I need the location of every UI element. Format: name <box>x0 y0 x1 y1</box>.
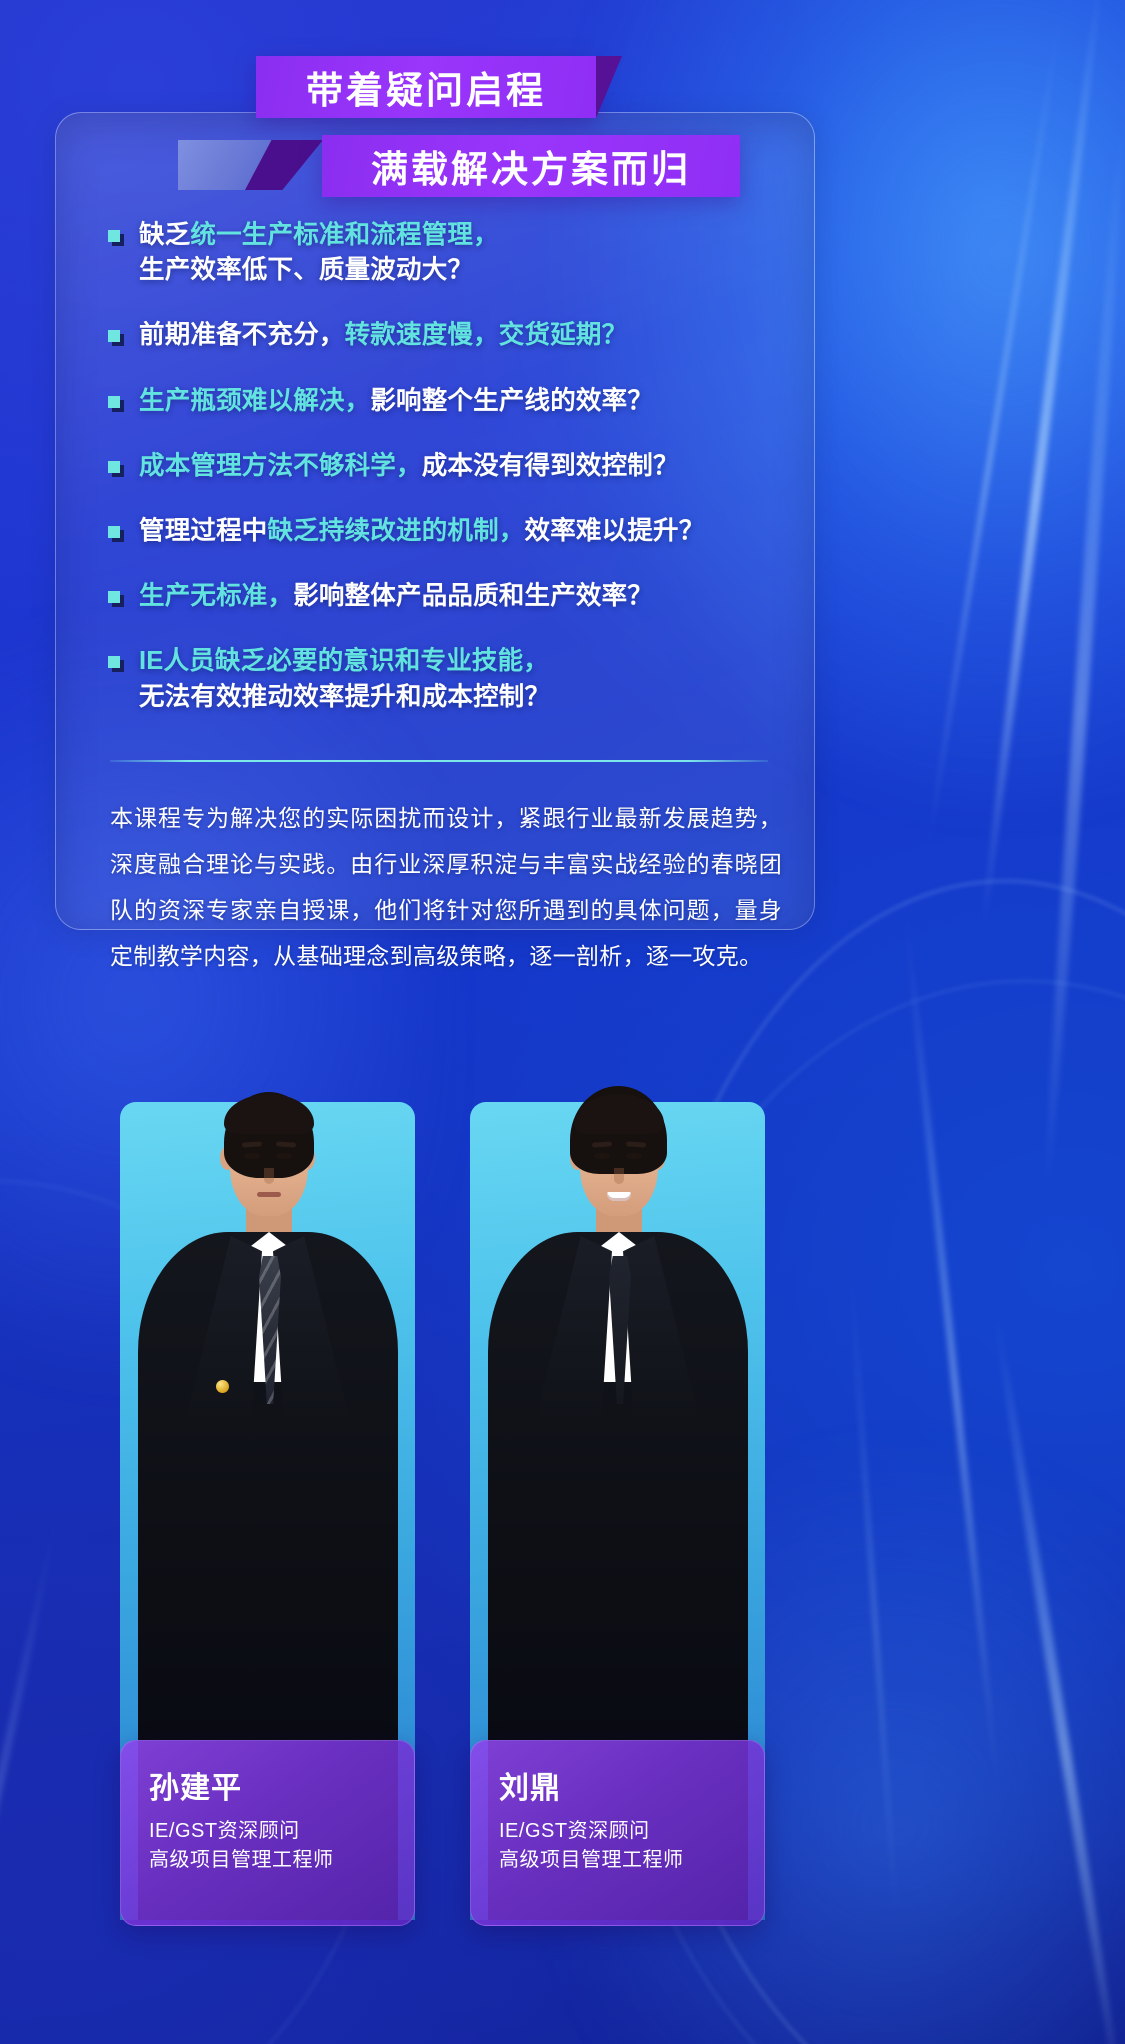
section-divider <box>110 760 768 762</box>
pain-point-text-line: 缺乏统一生产标准和流程管理， <box>139 218 499 253</box>
pain-point-plain: 成本没有得到效控制？ <box>422 452 679 480</box>
pain-point-highlight: 转款速度慢，交货延期？ <box>345 321 628 349</box>
headline-banner-primary-plate: 带着疑问启程 <box>256 56 596 118</box>
pain-point-highlight: IE人员缺乏必要的意识和专业技能， <box>139 647 549 675</box>
pain-point-item: 管理过程中缺乏持续改进的机制，效率难以提升？ <box>108 514 788 549</box>
pain-point-text-line: IE人员缺乏必要的意识和专业技能， <box>139 644 550 679</box>
headline-line-2: 满载解决方案而归 <box>371 139 691 193</box>
bullet-square-icon <box>108 396 123 411</box>
headline-line-1: 带着疑问启程 <box>306 60 546 114</box>
bullet-square-icon <box>108 656 123 671</box>
hair-fringe <box>224 1094 314 1134</box>
pain-point-text: 管理过程中缺乏持续改进的机制，效率难以提升？ <box>139 514 704 549</box>
pain-point-plain: 生产效率低下、质量波动大？ <box>139 256 473 284</box>
pain-point-text-line: 无法有效推动效率提升和成本控制？ <box>139 680 550 715</box>
pain-point-text: 生产无标准，影响整体产品品质和生产效率？ <box>139 579 653 614</box>
instructor-role-line-2: 高级项目管理工程师 <box>149 1846 414 1875</box>
pain-point-item: 前期准备不充分，转款速度慢，交货延期？ <box>108 318 788 353</box>
pain-point-text: IE人员缺乏必要的意识和专业技能，无法有效推动效率提升和成本控制？ <box>139 644 550 714</box>
headline-banner-secondary: 满载解决方案而归 <box>322 135 740 197</box>
pain-point-text: 缺乏统一生产标准和流程管理，生产效率低下、质量波动大？ <box>139 218 499 288</box>
pain-point-item: 生产瓶颈难以解决，影响整个生产线的效率？ <box>108 384 788 419</box>
eye-left <box>244 1153 260 1159</box>
pain-point-text-line: 前期准备不充分，转款速度慢，交货延期？ <box>139 318 627 353</box>
instructor-role-line-2: 高级项目管理工程师 <box>499 1846 764 1875</box>
pain-point-highlight: 生产瓶颈难以解决， <box>139 387 370 415</box>
pain-point-plain: 管理过程中 <box>139 517 268 545</box>
course-description-paragraph: 本课程专为解决您的实际困扰而设计，紧跟行业最新发展趋势，深度融合理论与实践。由行… <box>110 795 782 979</box>
pain-point-highlight: 统一生产标准和流程管理， <box>190 221 498 249</box>
pain-point-text-line: 生产效率低下、质量波动大？ <box>139 253 499 288</box>
instructor-nameplate: 孙建平IE/GST资深顾问高级项目管理工程师 <box>120 1740 415 1926</box>
nose <box>614 1168 624 1184</box>
eye-left <box>594 1153 610 1159</box>
pain-point-text-line: 管理过程中缺乏持续改进的机制，效率难以提升？ <box>139 514 704 549</box>
pain-point-list: 缺乏统一生产标准和流程管理，生产效率低下、质量波动大？前期准备不充分，转款速度慢… <box>108 218 788 715</box>
instructor-nameplate: 刘鼎IE/GST资深顾问高级项目管理工程师 <box>470 1740 765 1926</box>
instructor-role-line-1: IE/GST资深顾问 <box>149 1817 414 1846</box>
instructor-role-line-1: IE/GST资深顾问 <box>499 1817 764 1846</box>
pain-point-plain: 效率难以提升？ <box>525 517 705 545</box>
instructor-card: 刘鼎IE/GST资深顾问高级项目管理工程师 <box>470 1080 765 1920</box>
eye-right <box>626 1153 642 1159</box>
pain-point-text: 成本管理方法不够科学，成本没有得到效控制？ <box>139 449 679 484</box>
eye-right <box>276 1153 292 1159</box>
bullet-square-icon <box>108 591 123 606</box>
instructor-name: 孙建平 <box>149 1763 414 1807</box>
pain-point-highlight: 生产无标准， <box>139 582 293 610</box>
pain-point-plain: 缺乏 <box>139 221 190 249</box>
pain-point-plain: 影响整个生产线的效率？ <box>370 387 653 415</box>
pain-point-highlight: 成本管理方法不够科学， <box>139 452 422 480</box>
lapel-pin-icon <box>216 1380 229 1393</box>
mouth <box>607 1192 631 1201</box>
instructor-card: 孙建平IE/GST资深顾问高级项目管理工程师 <box>120 1080 415 1920</box>
pain-point-item: 生产无标准，影响整体产品品质和生产效率？ <box>108 579 788 614</box>
bullet-square-icon <box>108 461 123 476</box>
pain-point-plain: 无法有效推动效率提升和成本控制？ <box>139 683 550 711</box>
headline-banner-fold-icon <box>596 56 622 118</box>
bullet-square-icon <box>108 330 123 345</box>
headline-banner-secondary-plate: 满载解决方案而归 <box>322 135 740 197</box>
pain-point-text: 生产瓶颈难以解决，影响整个生产线的效率？ <box>139 384 653 419</box>
pain-point-highlight: 缺乏持续改进的机制， <box>268 517 525 545</box>
headline-banner-primary: 带着疑问启程 <box>256 56 596 118</box>
nose <box>264 1168 274 1184</box>
pain-point-text-line: 生产瓶颈难以解决，影响整个生产线的效率？ <box>139 384 653 419</box>
pain-point-plain: 前期准备不充分， <box>139 321 345 349</box>
instructor-name: 刘鼎 <box>499 1763 764 1807</box>
bullet-square-icon <box>108 526 123 541</box>
pain-point-item: 成本管理方法不够科学，成本没有得到效控制？ <box>108 449 788 484</box>
bullet-square-icon <box>108 230 123 245</box>
pain-point-item: IE人员缺乏必要的意识和专业技能，无法有效推动效率提升和成本控制？ <box>108 644 788 714</box>
mouth <box>257 1192 281 1197</box>
pain-point-text-line: 生产无标准，影响整体产品品质和生产效率？ <box>139 579 653 614</box>
instructor-cards: 孙建平IE/GST资深顾问高级项目管理工程师刘鼎IE/GST资深顾问高级项目管理… <box>0 1060 1125 2044</box>
pain-point-item: 缺乏统一生产标准和流程管理，生产效率低下、质量波动大？ <box>108 218 788 288</box>
pain-point-text: 前期准备不充分，转款速度慢，交货延期？ <box>139 318 627 353</box>
pain-point-text-line: 成本管理方法不够科学，成本没有得到效控制？ <box>139 449 679 484</box>
pain-point-plain: 影响整体产品品质和生产效率？ <box>293 582 653 610</box>
